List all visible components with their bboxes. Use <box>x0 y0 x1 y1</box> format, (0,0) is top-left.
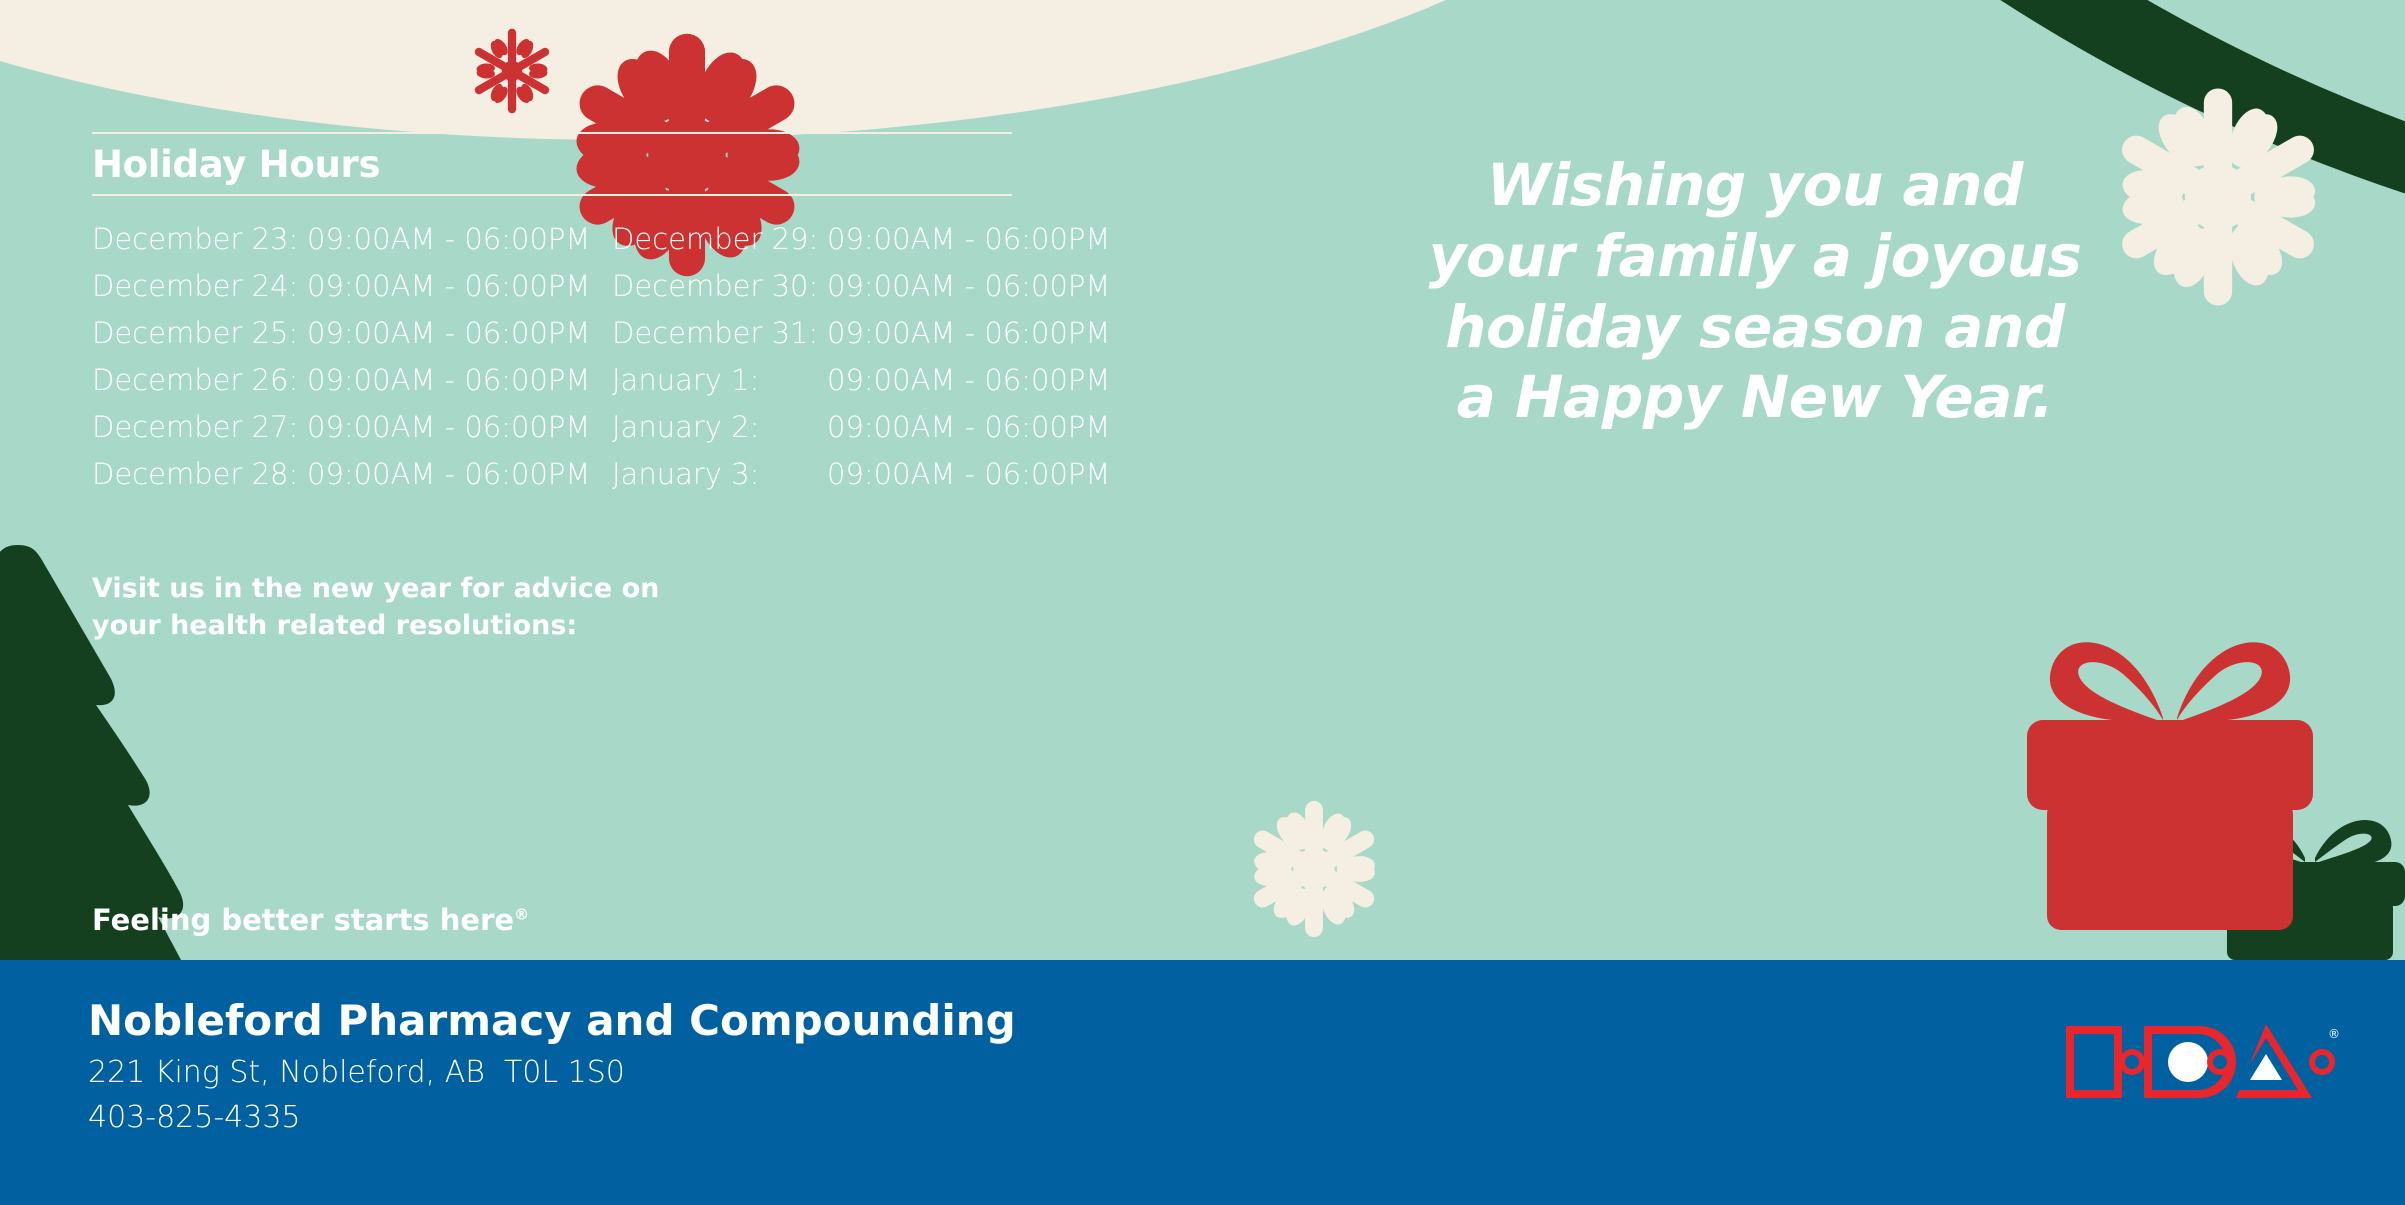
visit-note-line-1: Visit us in the new year for advice on <box>92 570 852 607</box>
hours-time: 09:00AM - 06:00PM <box>827 316 1110 350</box>
hours-time: 09:00AM - 06:00PM <box>307 222 590 256</box>
hours-date: December 25: <box>92 316 307 350</box>
hours-row: December 27: 09:00AM - 06:00PM <box>92 410 612 457</box>
hours-row: December 30: 09:00AM - 06:00PM <box>612 269 1132 316</box>
hours-date: December 29: <box>612 222 827 256</box>
hours-row: December 31: 09:00AM - 06:00PM <box>612 316 1132 363</box>
hours-row: December 24: 09:00AM - 06:00PM <box>92 269 612 316</box>
holiday-hours-section: Holiday Hours December 23: 09:00AM - 06:… <box>92 132 1112 504</box>
svg-text:®: ® <box>2328 1027 2340 1041</box>
hours-time: 09:00AM - 06:00PM <box>827 363 1110 397</box>
page-title: Holiday Hours <box>92 134 1112 194</box>
hours-row: December 26: 09:00AM - 06:00PM <box>92 363 612 410</box>
footer-bar: Nobleford Pharmacy and Compounding 221 K… <box>0 960 2405 1205</box>
hours-row: December 29: 09:00AM - 06:00PM <box>612 222 1132 269</box>
hours-date: January 2: <box>612 410 827 444</box>
hours-row: December 23: 09:00AM - 06:00PM <box>92 222 612 269</box>
pharmacy-phone: 403-825-4335 <box>88 1100 301 1135</box>
hours-time: 09:00AM - 06:00PM <box>307 410 590 444</box>
hours-date: December 24: <box>92 269 307 303</box>
hours-date: December 30: <box>612 269 827 303</box>
hours-date: December 27: <box>92 410 307 444</box>
hours-row: January 3: 09:00AM - 06:00PM <box>612 457 1132 504</box>
hours-date: December 23: <box>92 222 307 256</box>
hours-row: December 25: 09:00AM - 06:00PM <box>92 316 612 363</box>
hours-grid: December 23: 09:00AM - 06:00PM December … <box>92 196 1112 504</box>
hours-date: January 3: <box>612 457 827 491</box>
holiday-greeting-message: Wishing you and your family a joyous hol… <box>1360 150 2150 433</box>
snowflake-icon <box>466 22 558 120</box>
greeting-line-1: Wishing you and <box>1360 150 2150 221</box>
hours-date: January 1: <box>612 363 827 397</box>
hours-row: January 1: 09:00AM - 06:00PM <box>612 363 1132 410</box>
hours-time: 09:00AM - 06:00PM <box>307 269 590 303</box>
hours-row: January 2: 09:00AM - 06:00PM <box>612 410 1132 457</box>
gift-box-icon <box>2005 610 2335 930</box>
visit-note-line-2: your health related resolutions: <box>92 607 852 644</box>
cream-wave-shape <box>0 0 1700 140</box>
hours-time: 09:00AM - 06:00PM <box>827 269 1110 303</box>
snowflake-icon <box>1240 790 1388 948</box>
pharmacy-address: 221 King St, Nobleford, AB T0L 1S0 <box>88 1055 625 1090</box>
brand-tagline: Feeling better starts here® <box>92 903 529 937</box>
holiday-greeting-banner: Holiday Hours December 23: 09:00AM - 06:… <box>0 0 2405 1205</box>
hours-date: December 28: <box>92 457 307 491</box>
hours-time: 09:00AM - 06:00PM <box>827 222 1110 256</box>
greeting-line-2: your family a joyous <box>1360 221 2150 292</box>
hours-row: December 28: 09:00AM - 06:00PM <box>92 457 612 504</box>
ida-logo: ® <box>2060 1012 2340 1112</box>
pharmacy-name: Nobleford Pharmacy and Compounding <box>88 996 1016 1045</box>
tagline-text: Feeling better starts here <box>92 903 514 937</box>
greeting-line-4: a Happy New Year. <box>1360 362 2150 433</box>
greeting-line-3: holiday season and <box>1360 292 2150 363</box>
hours-date: December 26: <box>92 363 307 397</box>
hours-time: 09:00AM - 06:00PM <box>307 316 590 350</box>
registered-trademark-mark: ® <box>514 905 529 923</box>
visit-note: Visit us in the new year for advice on y… <box>92 570 852 645</box>
hours-time: 09:00AM - 06:00PM <box>827 457 1110 491</box>
hours-time: 09:00AM - 06:00PM <box>307 457 590 491</box>
hours-time: 09:00AM - 06:00PM <box>827 410 1110 444</box>
hours-date: December 31: <box>612 316 827 350</box>
hours-time: 09:00AM - 06:00PM <box>307 363 590 397</box>
